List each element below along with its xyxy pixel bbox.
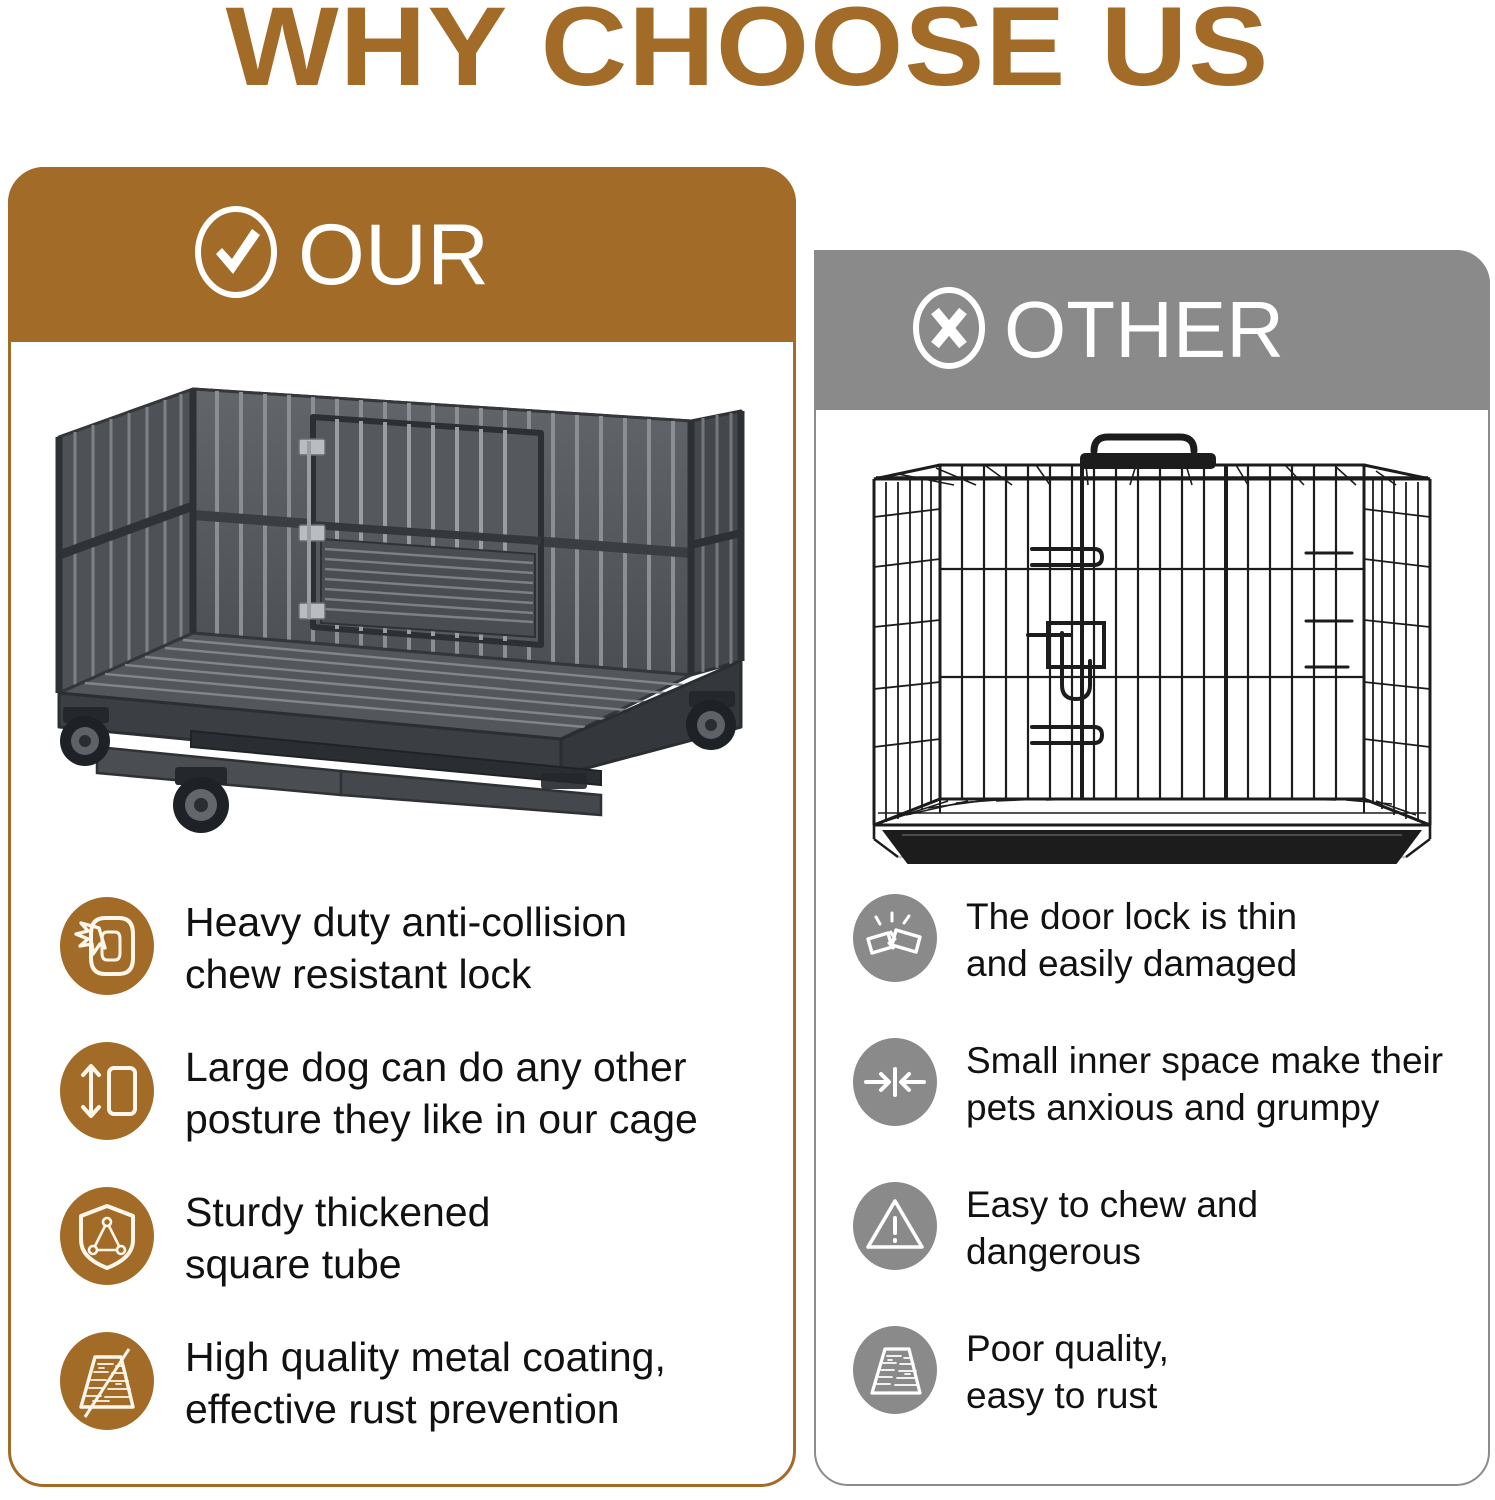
feature-label: High quality metal coating, effective ru…	[185, 1331, 666, 1435]
our-panel-label: OUR	[298, 212, 489, 298]
feature-row: Small inner space make their pets anxiou…	[816, 1016, 1488, 1152]
feature-label: Large dog can do any other posture they …	[185, 1041, 698, 1145]
broken-lock-icon	[852, 893, 938, 988]
check-circle-icon	[190, 202, 282, 307]
heavy-duty-steel-dog-crate-with-casters	[41, 375, 761, 845]
large-space-arrows-icon	[59, 1041, 155, 1146]
our-panel: OUR	[8, 167, 796, 1487]
feature-row: Sturdy thickened square tube	[11, 1170, 793, 1306]
feature-row: Large dog can do any other posture they …	[11, 1025, 793, 1161]
feature-row: Heavy duty anti-collision chew resistant…	[11, 880, 793, 1016]
our-panel-header: OUR	[8, 167, 796, 342]
other-panel-header: OTHER	[814, 250, 1490, 410]
poor-coating-icon	[852, 1325, 938, 1420]
other-panel-label: OTHER	[1004, 287, 1284, 373]
feature-label: The door lock is thin and easily damaged	[966, 893, 1297, 987]
feature-row: The door lock is thin and easily damaged	[816, 872, 1488, 1008]
feature-label: Poor quality, easy to rust	[966, 1325, 1169, 1419]
page-title: WHY CHOOSE US	[0, 0, 1495, 106]
feature-row: Poor quality, easy to rust	[816, 1304, 1488, 1440]
metal-coating-icon	[59, 1331, 155, 1436]
x-circle-icon	[910, 285, 988, 376]
feature-row: High quality metal coating, effective ru…	[11, 1315, 793, 1451]
other-feature-list: The door lock is thin and easily damaged…	[816, 872, 1488, 1448]
feature-label: Easy to chew and dangerous	[966, 1181, 1258, 1275]
warning-triangle-icon	[852, 1181, 938, 1276]
shield-square-tube-icon	[59, 1186, 155, 1291]
feature-label: Heavy duty anti-collision chew resistant…	[185, 896, 627, 1000]
feature-label: Sturdy thickened square tube	[185, 1186, 490, 1290]
chew-resistant-lock-icon	[59, 896, 155, 1001]
feature-label: Small inner space make their pets anxiou…	[966, 1037, 1443, 1131]
other-panel: OTHER	[814, 250, 1490, 1486]
feature-row: Easy to chew and dangerous	[816, 1160, 1488, 1296]
our-feature-list: Heavy duty anti-collision chew resistant…	[11, 880, 793, 1460]
narrow-space-arrows-icon	[852, 1037, 938, 1132]
thin-wire-dog-crate-with-plastic-tray	[836, 427, 1466, 867]
